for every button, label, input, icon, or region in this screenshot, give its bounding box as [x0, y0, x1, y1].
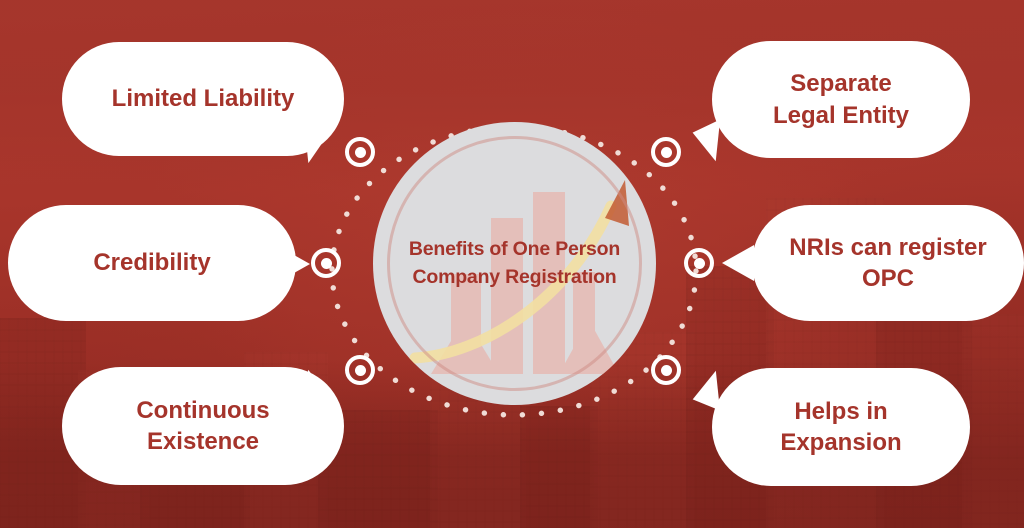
- benefit-label-credibility: Credibility: [79, 247, 224, 278]
- marker-nris-register-opc-icon[interactable]: [684, 248, 714, 278]
- benefit-bubble-separate-legal-entity[interactable]: Separate Legal Entity: [712, 41, 970, 158]
- marker-limited-liability-icon[interactable]: [345, 137, 375, 167]
- bubble-tail-nris-register-opc: [722, 245, 754, 281]
- benefit-bubble-helps-in-expansion[interactable]: Helps in Expansion: [712, 368, 970, 486]
- marker-credibility-icon[interactable]: [311, 248, 341, 278]
- infographic-canvas: Benefits of One Person Company Registrat…: [0, 0, 1024, 528]
- center-title-line1: Benefits of One Person: [373, 236, 656, 264]
- marker-separate-legal-entity-icon[interactable]: [651, 137, 681, 167]
- benefit-label-nris-register-opc: NRIs can register OPC: [775, 232, 1000, 294]
- bubble-tail-separate-legal-entity: [690, 117, 720, 161]
- center-medallion: Benefits of One Person Company Registrat…: [373, 122, 656, 405]
- benefit-bubble-continuous-existence[interactable]: Continuous Existence: [62, 367, 344, 485]
- benefit-label-limited-liability: Limited Liability: [98, 83, 309, 114]
- benefit-bubble-credibility[interactable]: Credibility: [8, 205, 296, 321]
- center-title-line2: Company Registration: [373, 264, 656, 292]
- benefit-bubble-nris-register-opc[interactable]: NRIs can register OPC: [752, 205, 1024, 321]
- marker-continuous-existence-icon[interactable]: [345, 355, 375, 385]
- benefit-bubble-limited-liability[interactable]: Limited Liability: [62, 42, 344, 156]
- marker-helps-in-expansion-icon[interactable]: [651, 355, 681, 385]
- benefit-label-helps-in-expansion: Helps in Expansion: [766, 396, 915, 458]
- center-title: Benefits of One Person Company Registrat…: [373, 236, 656, 291]
- benefit-label-continuous-existence: Continuous Existence: [122, 395, 283, 457]
- benefit-label-separate-legal-entity: Separate Legal Entity: [759, 68, 923, 130]
